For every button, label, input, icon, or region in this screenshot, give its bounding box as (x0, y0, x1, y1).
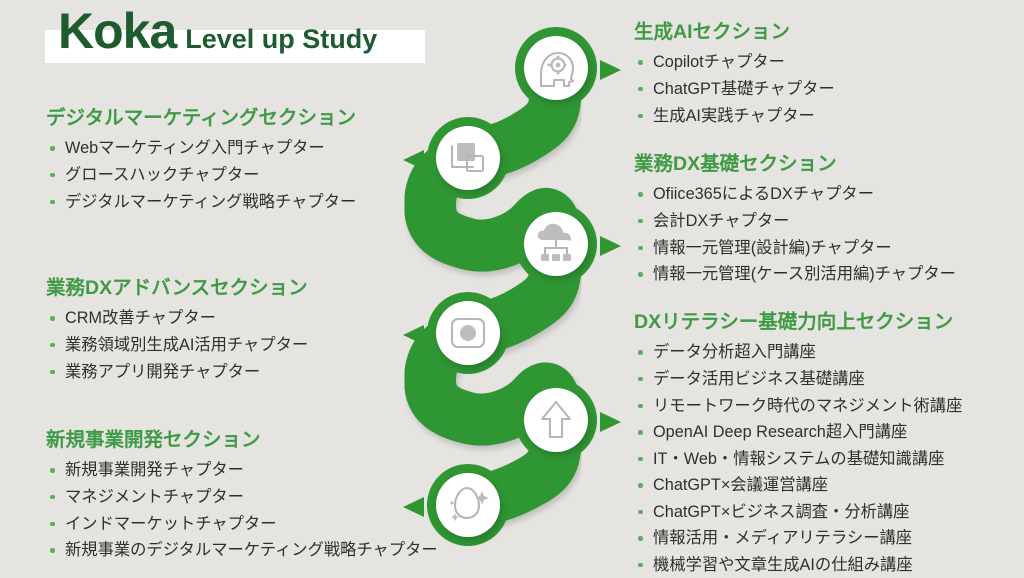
section-digital-marketing: デジタルマーケティングセクション Webマーケティング入門チャプター グロースハ… (46, 106, 356, 215)
section-dx-basic: 業務DX基礎セクション Ofiice365によるDXチャプター 会計DXチャプタ… (634, 152, 956, 288)
arrow-right-dx-basic (600, 236, 621, 256)
list-item: 会計DXチャプター (634, 208, 956, 235)
arrow-left-dx-advance (403, 325, 424, 345)
chain-node-generative-ai[interactable] (515, 27, 597, 109)
section-generative-ai: 生成AIセクション Copilotチャプター ChatGPT基礎チャプター 生成… (634, 20, 835, 129)
section-items-dx-literacy: データ分析超入門講座 データ活用ビジネス基礎講座 リモートワーク時代のマネジメン… (634, 339, 962, 578)
list-item: IT・Web・情報システムの基礎知識講座 (634, 446, 962, 473)
section-heading-generative-ai: 生成AIセクション (634, 20, 835, 44)
list-item: OpenAI Deep Research超入門講座 (634, 419, 962, 446)
list-item: ChatGPT×会議運営講座 (634, 472, 962, 499)
section-heading-dx-basic: 業務DX基礎セクション (634, 152, 956, 176)
list-item: Ofiice365によるDXチャプター (634, 181, 956, 208)
list-item: 新規事業開発チャプター (46, 457, 438, 484)
section-heading-new-business: 新規事業開発セクション (46, 428, 438, 452)
chain-node-dx-literacy[interactable] (515, 379, 597, 461)
section-items-generative-ai: Copilotチャプター ChatGPT基礎チャプター 生成AI実践チャプター (634, 49, 835, 129)
brand-name: Koka (58, 3, 176, 59)
list-item: 機械学習や文章生成AIの仕組み講座 (634, 552, 962, 578)
section-heading-dx-literacy: DXリテラシー基礎力向上セクション (634, 310, 962, 334)
arrow-right-dx-literacy (600, 412, 621, 432)
chain-node-digital-marketing[interactable] (427, 117, 509, 199)
section-dx-advance: 業務DXアドバンスセクション CRM改善チャプター 業務領域別生成AI活用チャプ… (46, 276, 308, 385)
list-item: Webマーケティング入門チャプター (46, 135, 356, 162)
list-item: 業務アプリ開発チャプター (46, 359, 308, 386)
section-items-new-business: 新規事業開発チャプター マネジメントチャプター インドマーケットチャプター 新規… (46, 457, 438, 563)
chain-node-new-business[interactable] (427, 464, 509, 546)
brand-tagline: Level up Study (185, 24, 377, 54)
section-dx-literacy: DXリテラシー基礎力向上セクション データ分析超入門講座 データ活用ビジネス基礎… (634, 310, 962, 578)
list-item: 情報一元管理(設計編)チャプター (634, 235, 956, 262)
section-items-dx-basic: Ofiice365によるDXチャプター 会計DXチャプター 情報一元管理(設計編… (634, 181, 956, 287)
list-item: CRM改善チャプター (46, 305, 308, 332)
list-item: マネジメントチャプター (46, 484, 438, 511)
infographic-canvas: KokaLevel up Study デジタルマーケティングセクション Webマ… (0, 0, 1024, 578)
list-item: データ分析超入門講座 (634, 339, 962, 366)
section-items-dx-advance: CRM改善チャプター 業務領域別生成AI活用チャプター 業務アプリ開発チャプター (46, 305, 308, 385)
list-item: デジタルマーケティング戦略チャプター (46, 189, 356, 216)
list-item: Copilotチャプター (634, 49, 835, 76)
section-items-digital-marketing: Webマーケティング入門チャプター グロースハックチャプター デジタルマーケティ… (46, 135, 356, 215)
chain-node-dx-basic[interactable] (515, 203, 597, 285)
list-item: 情報一元管理(ケース別活用編)チャプター (634, 261, 956, 288)
list-item: グロースハックチャプター (46, 162, 356, 189)
page-title: KokaLevel up Study (58, 6, 377, 56)
chain-node-dx-advance[interactable] (427, 292, 509, 374)
list-item: ChatGPT基礎チャプター (634, 76, 835, 103)
list-item: 生成AI実践チャプター (634, 103, 835, 130)
list-item: インドマーケットチャプター (46, 511, 438, 538)
section-heading-dx-advance: 業務DXアドバンスセクション (46, 276, 308, 300)
section-new-business: 新規事業開発セクション 新規事業開発チャプター マネジメントチャプター インドマ… (46, 428, 438, 564)
list-item: 情報活用・メディアリテラシー講座 (634, 525, 962, 552)
list-item: ChatGPT×ビジネス調査・分析講座 (634, 499, 962, 526)
list-item: データ活用ビジネス基礎講座 (634, 366, 962, 393)
arrow-right-generative-ai (600, 60, 621, 80)
list-item: 新規事業のデジタルマーケティング戦略チャプター (46, 537, 438, 564)
list-item: 業務領域別生成AI活用チャプター (46, 332, 308, 359)
list-item: リモートワーク時代のマネジメント術講座 (634, 393, 962, 420)
section-heading-digital-marketing: デジタルマーケティングセクション (46, 106, 356, 130)
